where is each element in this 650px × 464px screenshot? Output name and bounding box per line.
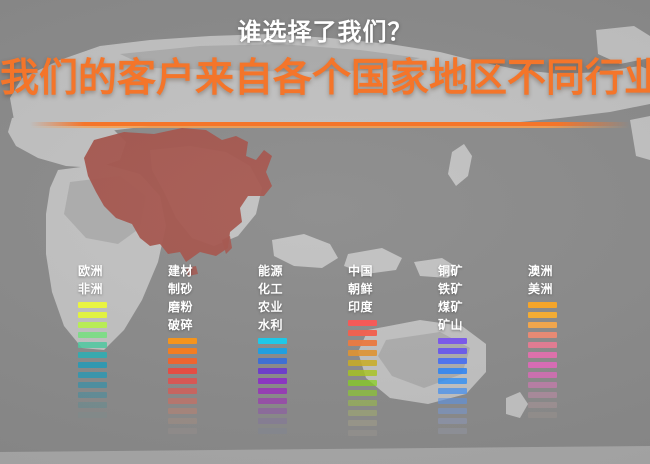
color-bar: [78, 402, 107, 408]
color-bar: [528, 332, 557, 338]
keyword-label[interactable]: 欧洲: [78, 262, 168, 280]
color-bar: [528, 372, 557, 378]
keyword-column-mining: 铜矿铁矿煤矿矿山: [438, 262, 528, 438]
color-bar: [78, 362, 107, 368]
color-bar-stack: [438, 338, 528, 434]
color-bar: [438, 398, 467, 404]
color-bar: [348, 410, 377, 416]
keyword-label[interactable]: 能源: [258, 262, 348, 280]
color-bar: [348, 420, 377, 426]
keyword-label[interactable]: 铜矿: [438, 262, 528, 280]
color-bar: [78, 332, 107, 338]
page-title: 我们的客户来自各个国家地区不同行业: [0, 47, 650, 104]
color-bar: [258, 358, 287, 364]
color-bar: [78, 312, 107, 318]
color-bar: [528, 352, 557, 358]
color-bar: [438, 358, 467, 364]
color-bar: [168, 338, 197, 344]
color-bar: [258, 388, 287, 394]
color-bar: [348, 340, 377, 346]
keyword-column-regions-1: 欧洲非洲: [78, 262, 168, 422]
color-bar: [78, 322, 107, 328]
color-bar: [348, 430, 377, 436]
color-bar-stack: [258, 338, 348, 434]
keyword-label[interactable]: 印度: [348, 298, 438, 316]
headline-block: 谁选择了我们？ 我们的客户来自各个国家地区不同行业: [0, 0, 650, 104]
color-bar: [168, 358, 197, 364]
color-bar: [168, 348, 197, 354]
keyword-label[interactable]: 制砂: [168, 280, 258, 298]
color-bar: [528, 392, 557, 398]
color-bar: [258, 348, 287, 354]
color-bar: [258, 418, 287, 424]
color-bar: [348, 360, 377, 366]
keyword-label[interactable]: 破碎: [168, 316, 258, 334]
color-bar: [258, 338, 287, 344]
keyword-label-list: 建材制砂磨粉破碎: [168, 262, 258, 334]
keyword-label[interactable]: 铁矿: [438, 280, 528, 298]
color-bar-stack: [78, 302, 168, 418]
color-bar: [258, 398, 287, 404]
accent-rule-glow: [30, 126, 630, 128]
color-bar: [258, 428, 287, 434]
keyword-label[interactable]: 矿山: [438, 316, 528, 334]
keyword-column-products-1: 建材制砂磨粉破碎: [168, 262, 258, 438]
color-bar: [528, 322, 557, 328]
color-bar: [438, 378, 467, 384]
keyword-label-list: 中国朝鲜印度: [348, 262, 438, 316]
color-bar: [348, 380, 377, 386]
keyword-label-list: 能源化工农业水利: [258, 262, 348, 334]
color-bar: [438, 338, 467, 344]
color-bar: [168, 418, 197, 424]
keyword-column-regions-2: 澳洲美洲: [528, 262, 618, 422]
color-bar: [528, 412, 557, 418]
keyword-label[interactable]: 建材: [168, 262, 258, 280]
keyword-columns: 欧洲非洲建材制砂磨粉破碎能源化工农业水利中国朝鲜印度铜矿铁矿煤矿矿山澳洲美洲: [0, 262, 650, 462]
keyword-label[interactable]: 农业: [258, 298, 348, 316]
color-bar: [528, 302, 557, 308]
color-bar: [168, 378, 197, 384]
color-bar-stack: [348, 320, 438, 436]
keyword-label[interactable]: 美洲: [528, 280, 618, 298]
keyword-label[interactable]: 澳洲: [528, 262, 618, 280]
keyword-label[interactable]: 非洲: [78, 280, 168, 298]
color-bar: [258, 368, 287, 374]
keyword-label[interactable]: 中国: [348, 262, 438, 280]
keyword-label[interactable]: 化工: [258, 280, 348, 298]
color-bar: [78, 342, 107, 348]
color-bar: [438, 368, 467, 374]
color-bar: [348, 390, 377, 396]
color-bar: [168, 398, 197, 404]
color-bar: [258, 378, 287, 384]
color-bar: [258, 408, 287, 414]
color-bar: [528, 362, 557, 368]
color-bar: [168, 388, 197, 394]
color-bar: [78, 352, 107, 358]
color-bar: [438, 348, 467, 354]
keyword-label[interactable]: 水利: [258, 316, 348, 334]
color-bar: [348, 350, 377, 356]
color-bar: [348, 400, 377, 406]
color-bar: [78, 372, 107, 378]
color-bar: [168, 428, 197, 434]
keyword-label[interactable]: 磨粉: [168, 298, 258, 316]
keyword-column-countries: 中国朝鲜印度: [348, 262, 438, 440]
color-bar: [528, 382, 557, 388]
color-bar: [528, 312, 557, 318]
color-bar: [348, 330, 377, 336]
keyword-label-list: 铜矿铁矿煤矿矿山: [438, 262, 528, 334]
color-bar: [438, 418, 467, 424]
color-bar: [78, 302, 107, 308]
color-bar: [438, 428, 467, 434]
keyword-label[interactable]: 朝鲜: [348, 280, 438, 298]
page-subtitle: 谁选择了我们？: [0, 0, 650, 47]
keyword-label-list: 澳洲美洲: [528, 262, 618, 298]
color-bar: [348, 370, 377, 376]
color-bar: [438, 408, 467, 414]
keyword-label-list: 欧洲非洲: [78, 262, 168, 298]
promo-banner: 谁选择了我们？ 我们的客户来自各个国家地区不同行业 欧洲非洲建材制砂磨粉破碎能源…: [0, 0, 650, 464]
color-bar: [168, 368, 197, 374]
color-bar: [168, 408, 197, 414]
color-bar-stack: [168, 338, 258, 434]
color-bar: [78, 382, 107, 388]
color-bar: [348, 320, 377, 326]
color-bar-stack: [528, 302, 618, 418]
color-bar: [438, 388, 467, 394]
keyword-label[interactable]: 煤矿: [438, 298, 528, 316]
keyword-column-industries: 能源化工农业水利: [258, 262, 348, 438]
color-bar: [528, 402, 557, 408]
color-bar: [528, 342, 557, 348]
color-bar: [78, 412, 107, 418]
color-bar: [78, 392, 107, 398]
